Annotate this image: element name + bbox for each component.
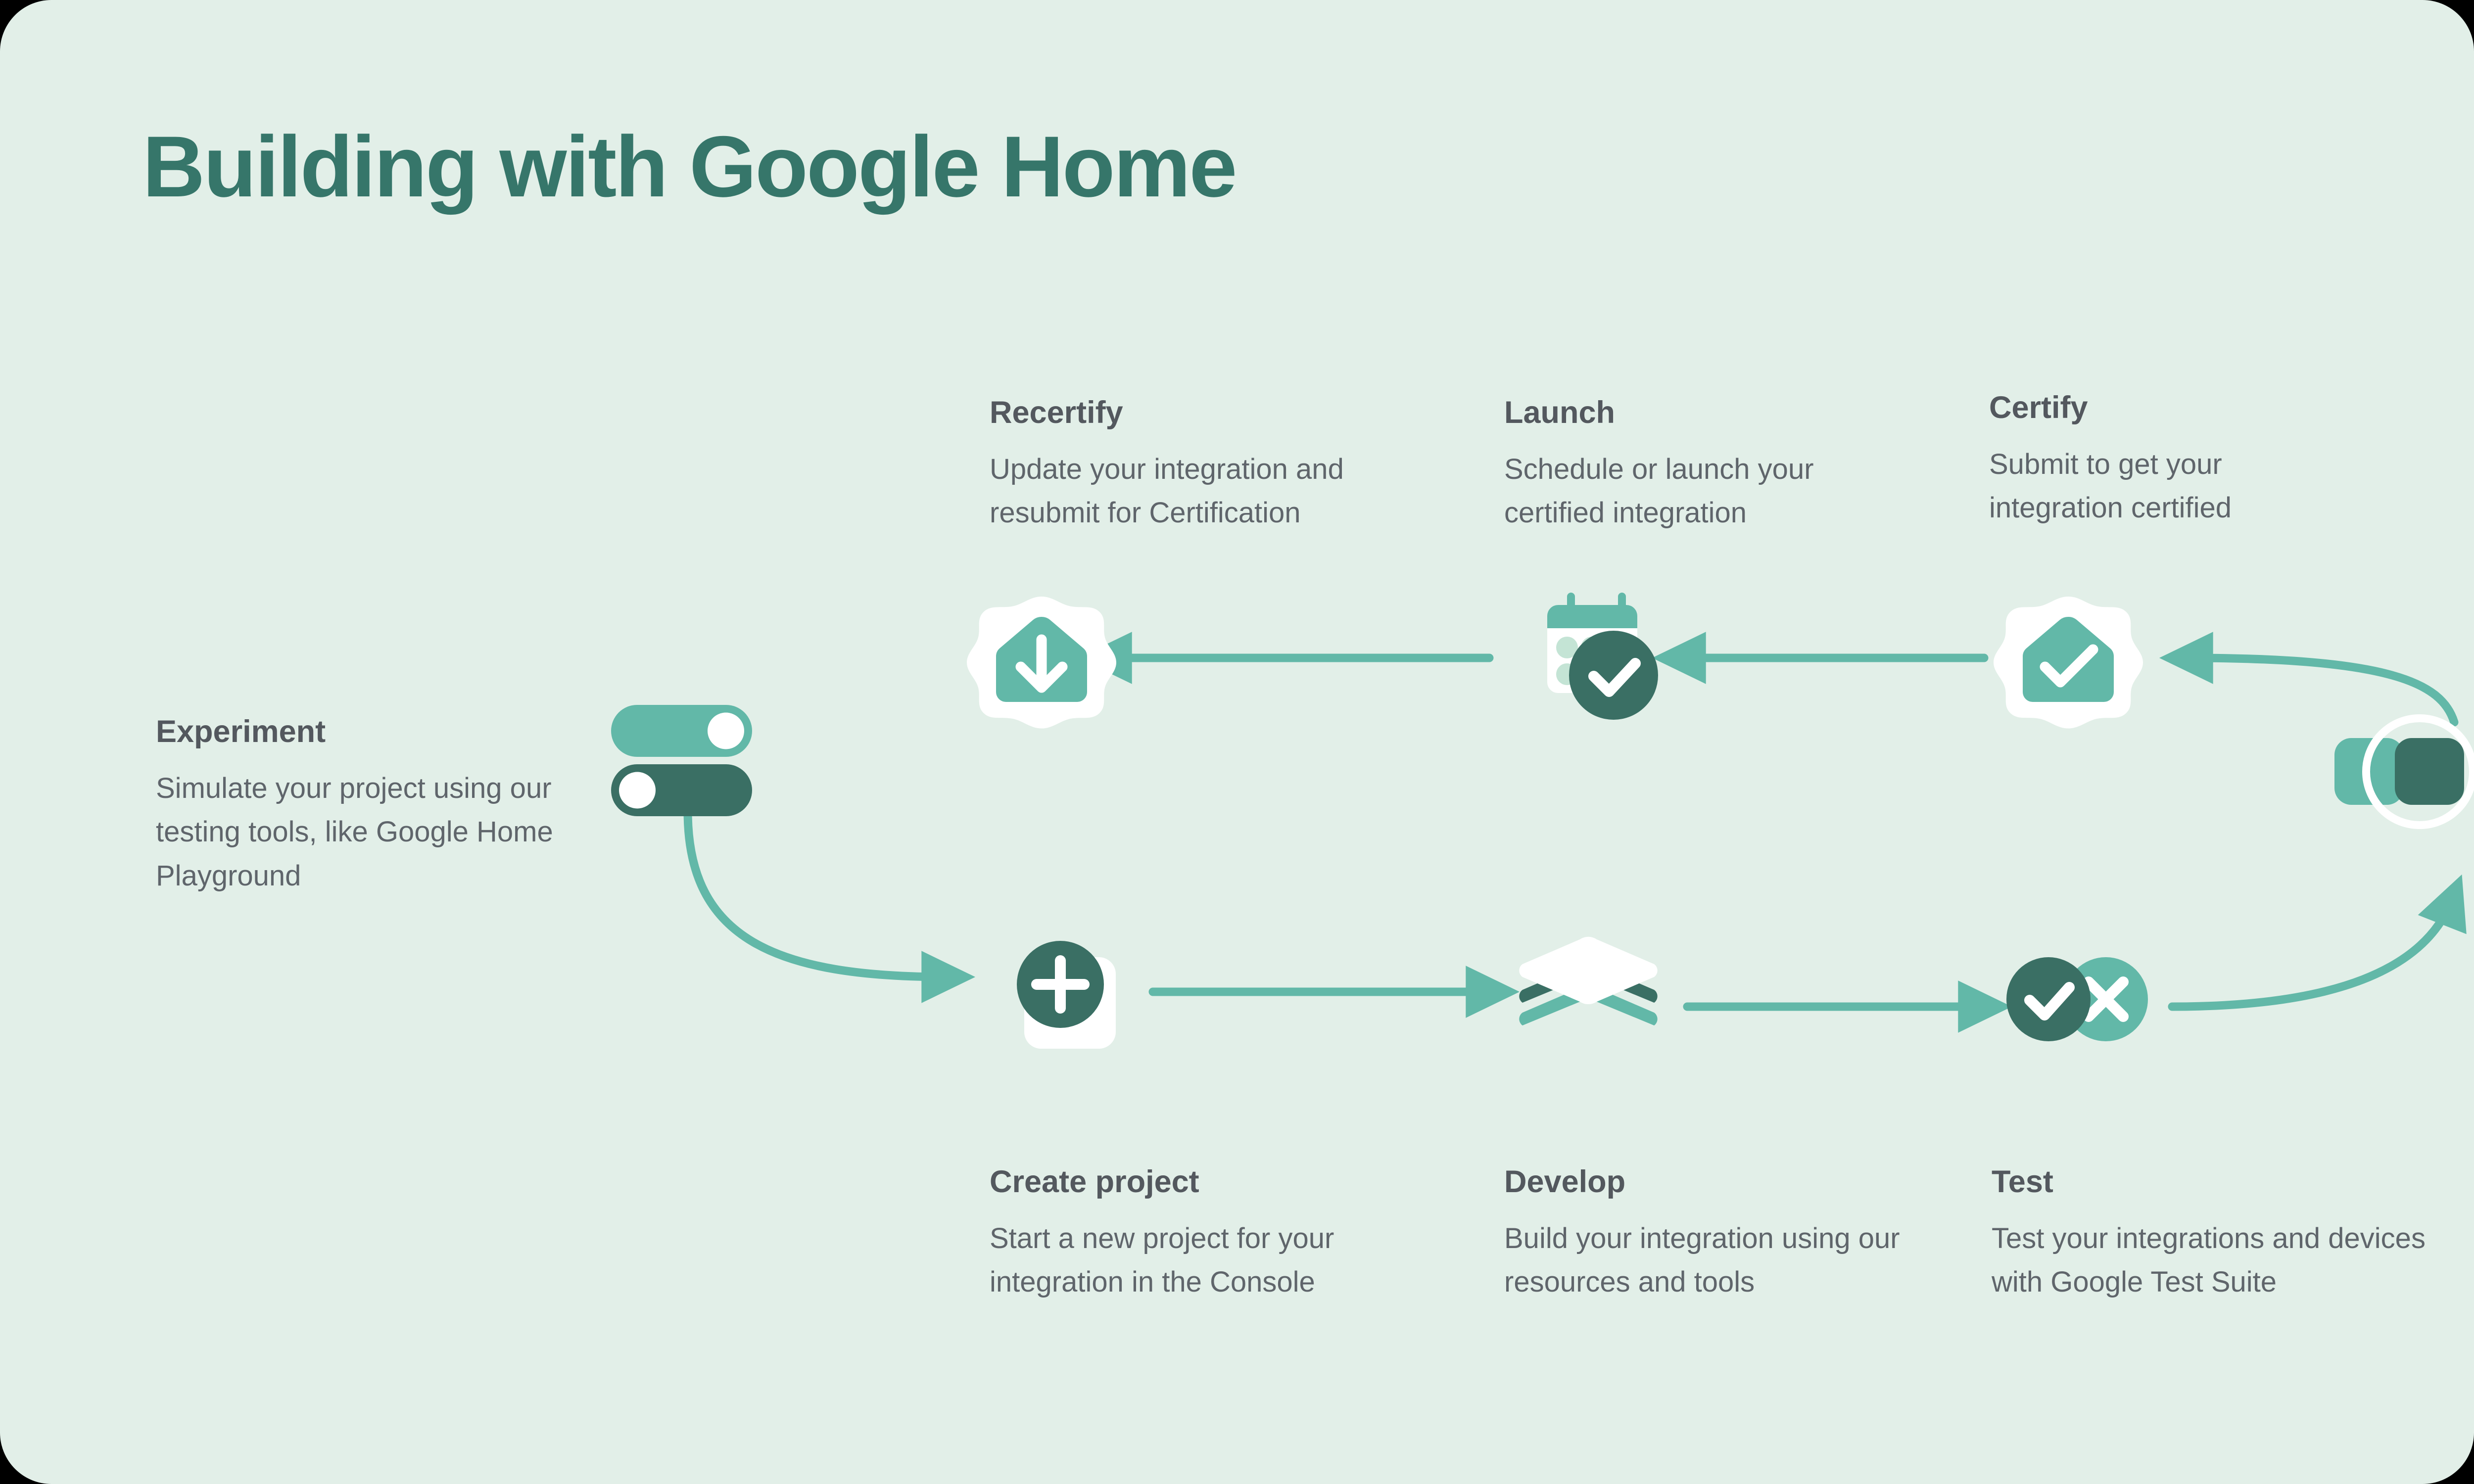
check-cross-icon	[1999, 950, 2157, 1049]
step-test-title: Test	[1992, 1165, 2452, 1199]
step-test-desc: Test your integrations and devices with …	[1992, 1217, 2452, 1304]
layers-icon	[1514, 935, 1663, 1054]
connector-field-trial-to-certify	[2187, 658, 2454, 722]
step-create-project-title: Create project	[990, 1165, 1400, 1199]
diagram-canvas: Building with Google Home Recertify Upda…	[0, 0, 2474, 1484]
step-experiment: Experiment Simulate your project using o…	[156, 715, 586, 898]
step-launch-desc: Schedule or launch your certified integr…	[1504, 448, 1880, 535]
badge-download-icon	[965, 594, 1118, 732]
step-launch-title: Launch	[1504, 396, 1880, 430]
step-certify-title: Certify	[1989, 391, 2311, 425]
devices-circle-icon	[2326, 717, 2474, 831]
step-certify: Certify Submit to get your integration c…	[1989, 391, 2311, 530]
step-experiment-desc: Simulate your project using our testing …	[156, 767, 586, 897]
calendar-check-icon	[1517, 591, 1665, 727]
step-experiment-title: Experiment	[156, 715, 586, 749]
step-test: Test Test your integrations and devices …	[1992, 1165, 2452, 1304]
step-launch: Launch Schedule or launch your certified…	[1504, 396, 1880, 535]
step-create-project-desc: Start a new project for your integration…	[990, 1217, 1400, 1304]
step-create-project: Create project Start a new project for y…	[990, 1165, 1400, 1304]
step-recertify-title: Recertify	[990, 396, 1415, 430]
connector-test-to-field-trial	[2172, 900, 2452, 1007]
toggle-switches-icon	[609, 702, 757, 819]
connector-experiment-to-create-project	[688, 811, 948, 977]
page-title: Building with Google Home	[143, 124, 1236, 210]
add-project-icon	[987, 930, 1131, 1054]
step-recertify: Recertify Update your integration and re…	[990, 396, 1415, 535]
step-recertify-desc: Update your integration and resubmit for…	[990, 448, 1415, 535]
badge-check-icon	[1992, 594, 2145, 732]
step-develop-title: Develop	[1504, 1165, 1915, 1199]
step-develop-desc: Build your integration using our resourc…	[1504, 1217, 1915, 1304]
step-certify-desc: Submit to get your integration certified	[1989, 443, 2311, 530]
step-develop: Develop Build your integration using our…	[1504, 1165, 1915, 1304]
